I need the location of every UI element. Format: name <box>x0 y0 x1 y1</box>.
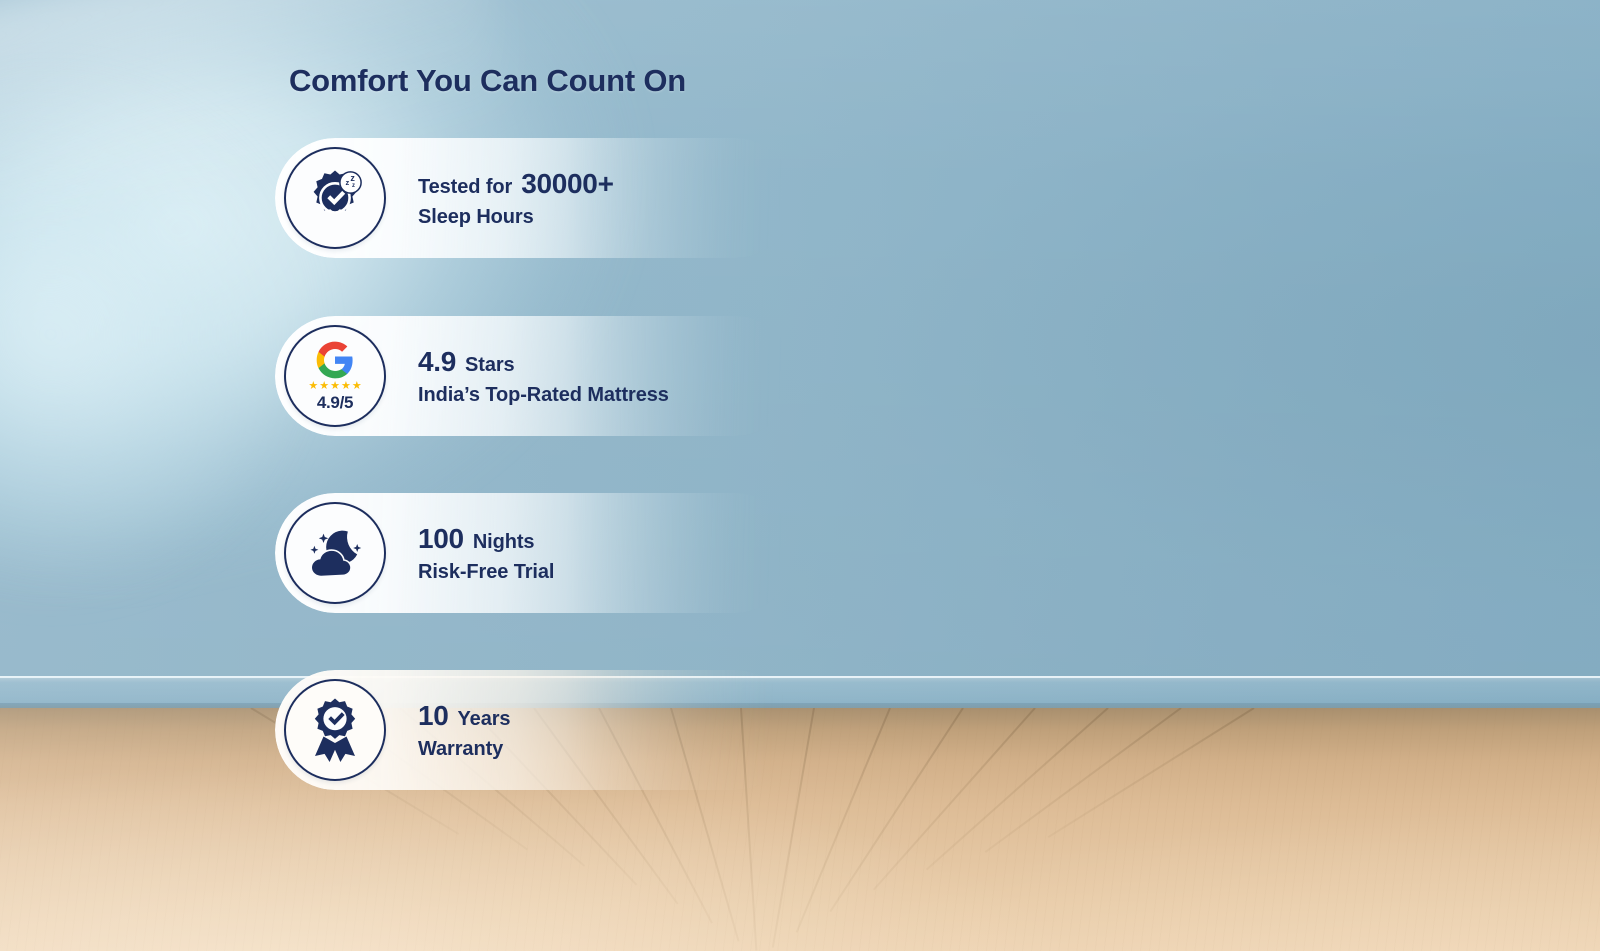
card-prefix: Tested for <box>418 175 512 199</box>
award-ribbon-icon <box>284 679 386 781</box>
star-icon: ★ <box>341 381 351 392</box>
star-icon: ★ <box>308 381 318 392</box>
sleep-badge-icon: z z z <box>284 147 386 249</box>
star-rating: ★ ★ ★ ★ ★ <box>308 381 361 392</box>
card-subline: India’s Top-Rated Mattress <box>418 383 669 407</box>
card-unit: Nights <box>473 530 535 554</box>
star-icon: ★ <box>319 381 329 392</box>
card-value: 30000+ <box>521 167 613 201</box>
card-subline: Sleep Hours <box>418 205 614 229</box>
svg-text:z: z <box>346 178 350 187</box>
moon-cloud-icon <box>284 502 386 604</box>
promo-scene: Comfort You Can Count On z z z Tested fo… <box>0 0 1600 951</box>
card-subline: Risk-Free Trial <box>418 560 554 584</box>
rating-score: 4.9/5 <box>317 393 353 413</box>
feature-card-trial[interactable]: 100 Nights Risk-Free Trial <box>275 493 795 613</box>
feature-card-list: z z z Tested for 30000+ Sleep Hours <box>0 0 1600 951</box>
google-rating-icon: ★ ★ ★ ★ ★ 4.9/5 <box>284 325 386 427</box>
google-g-icon <box>315 340 355 380</box>
feature-card-google-rating[interactable]: ★ ★ ★ ★ ★ 4.9/5 4.9 Stars India’s Top-Ra… <box>275 316 795 436</box>
star-icon: ★ <box>330 381 340 392</box>
card-value: 4.9 <box>418 345 456 379</box>
card-subline: Warranty <box>418 737 510 761</box>
feature-card-text: Tested for 30000+ Sleep Hours <box>418 167 614 230</box>
feature-card-warranty[interactable]: 10 Years Warranty <box>275 670 795 790</box>
card-value: 100 <box>418 522 464 556</box>
svg-text:z: z <box>352 183 355 189</box>
card-unit: Years <box>458 707 511 731</box>
feature-card-text: 10 Years Warranty <box>418 699 510 762</box>
feature-card-text: 100 Nights Risk-Free Trial <box>418 522 554 585</box>
card-unit: Stars <box>465 353 515 377</box>
star-icon: ★ <box>352 381 362 392</box>
card-value: 10 <box>418 699 449 733</box>
feature-card-sleep-hours[interactable]: z z z Tested for 30000+ Sleep Hours <box>275 138 795 258</box>
feature-card-text: 4.9 Stars India’s Top-Rated Mattress <box>418 345 669 408</box>
svg-text:z: z <box>350 173 355 183</box>
